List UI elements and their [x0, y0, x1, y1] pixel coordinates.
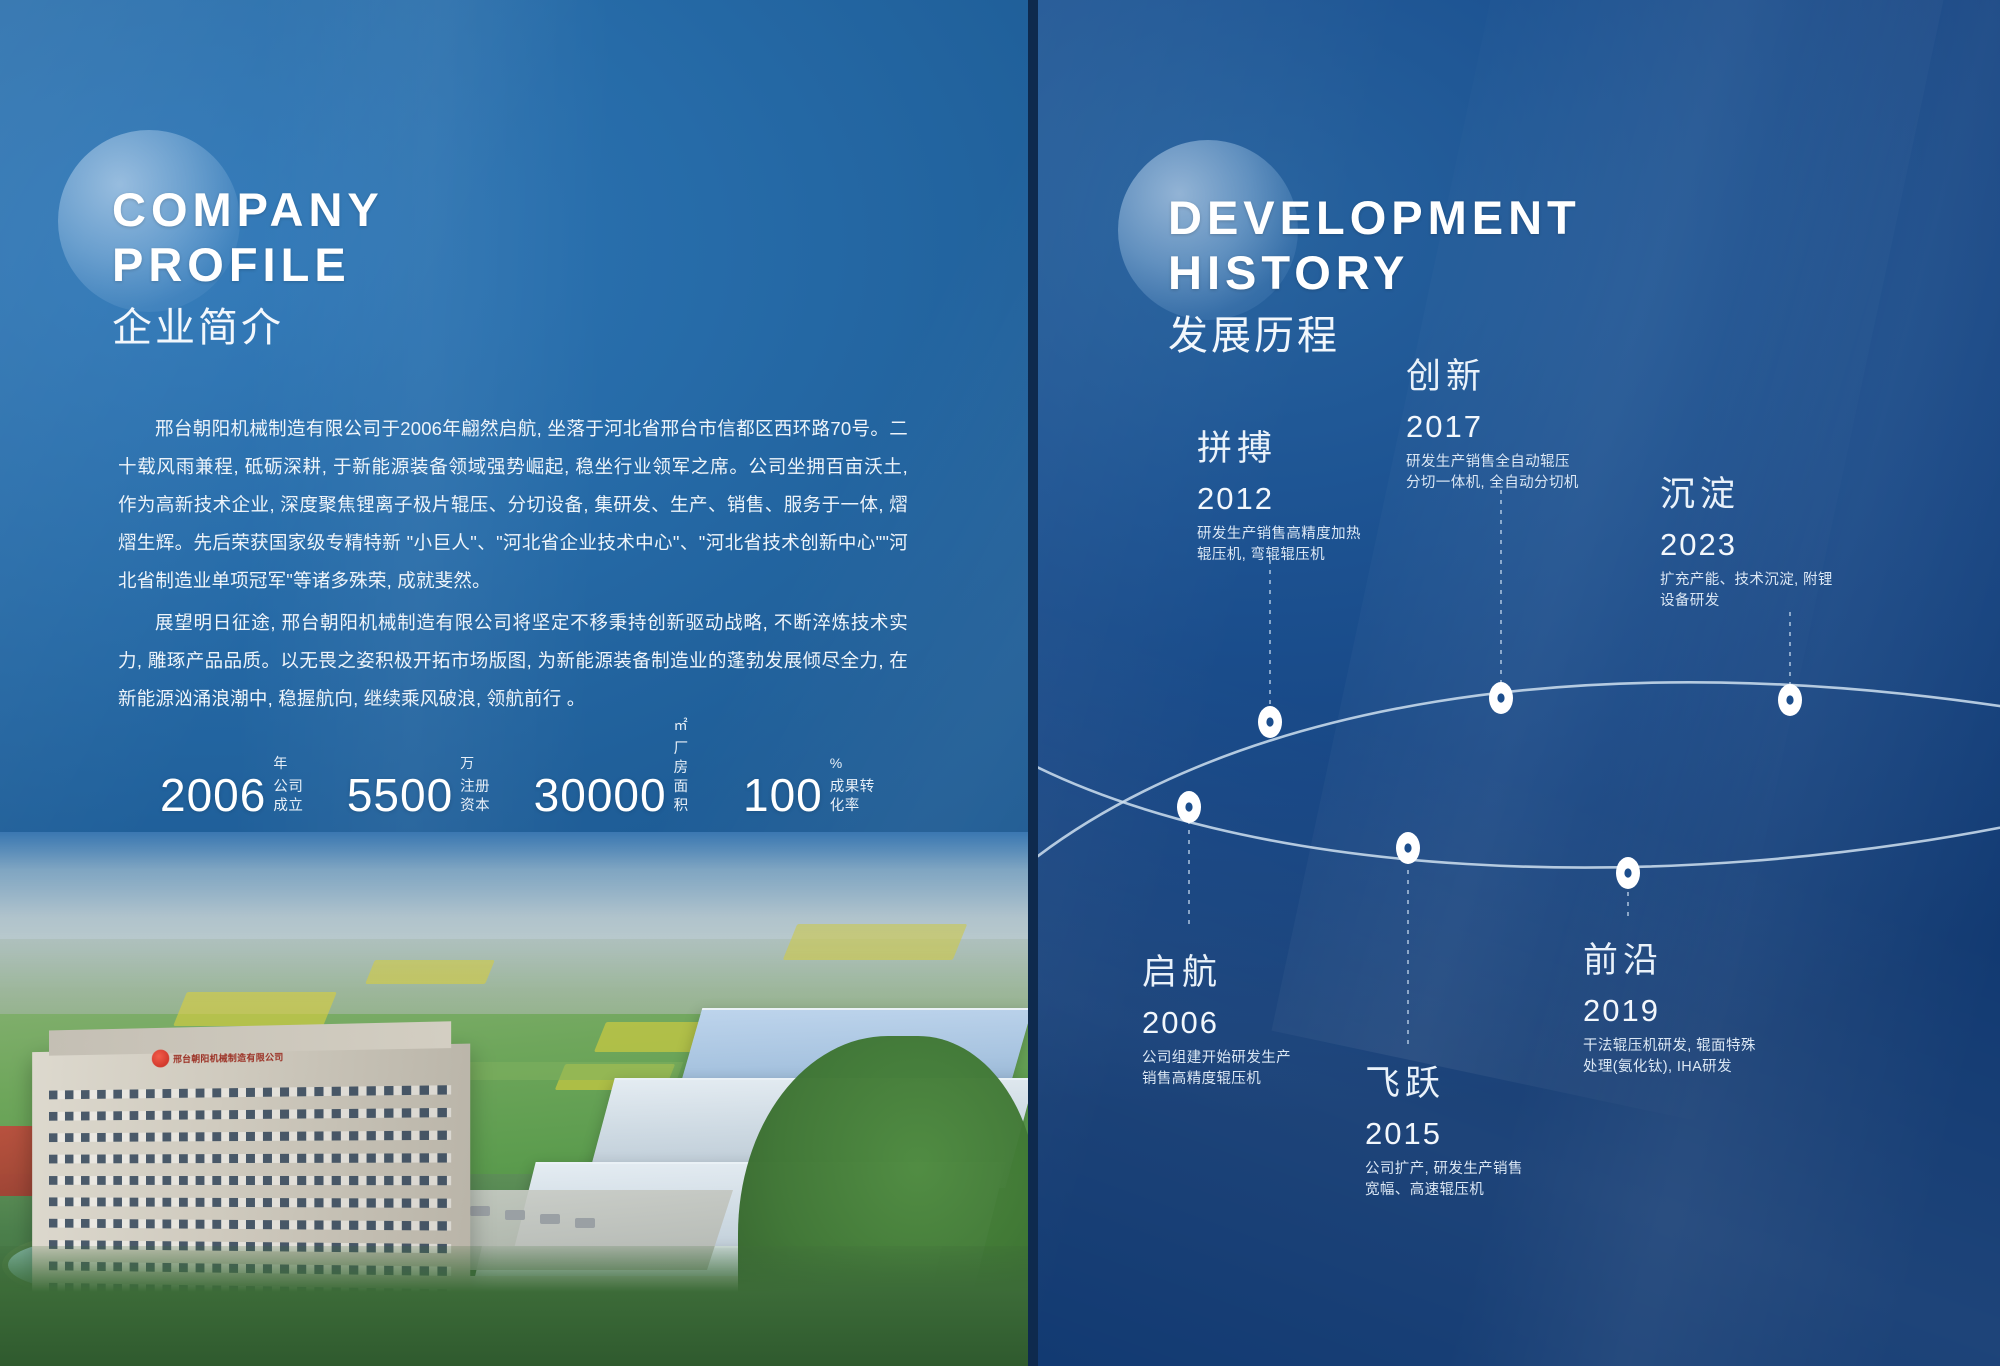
- factory-aerial-photo: 邢台朝阳机械制造有限公司: [0, 832, 1028, 1366]
- milestone-tag: 前沿: [1583, 940, 1813, 982]
- stat-label: 厂房面积: [674, 740, 703, 816]
- timeline-node-2006: [1177, 791, 1201, 823]
- timeline-node-2012: [1258, 706, 1282, 738]
- timeline-node-2019: [1616, 857, 1640, 889]
- development-history-title-block: DEVELOPMENT HISTORY 发展历程: [1168, 190, 1581, 364]
- milestone-tag: 启航: [1142, 952, 1372, 994]
- company-profile-title-block: COMPANY PROFILE 企业简介: [112, 182, 384, 356]
- brochure-spread: COMPANY PROFILE 企业简介 邢台朝阳机械制造有限公司于2006年翩…: [0, 0, 2000, 1366]
- milestone-2017[interactable]: 创新 2017 研发生产销售全自动辊压分切一体机, 全自动分切机: [1406, 356, 1636, 494]
- milestone-desc: 干法辊压机研发, 辊面特殊处理(氨化钛), IHA研发: [1583, 1036, 1813, 1078]
- milestone-2006[interactable]: 启航 2006 公司组建开始研发生产销售高精度辊压机: [1142, 952, 1372, 1090]
- stat-label: 公司成立: [273, 778, 306, 816]
- stat-side: ㎡ 厂房面积: [674, 718, 703, 818]
- milestone-year: 2006: [1142, 1004, 1372, 1042]
- timeline-node-2015: [1396, 832, 1420, 864]
- company-stats-row: 2006 年 公司成立 5500 万 注册资本 30000 ㎡ 厂房面积: [160, 718, 920, 818]
- company-profile-paragraph-1: 邢台朝阳机械制造有限公司于2006年翩然启航, 坐落于河北省邢台市信都区西环路7…: [118, 410, 908, 600]
- milestone-desc: 扩充产能、技术沉淀, 附锂设备研发: [1660, 570, 1890, 612]
- milestone-tag: 飞跃: [1365, 1063, 1595, 1105]
- milestone-desc: 研发生产销售高精度加热辊压机, 弯辊辊压机: [1197, 524, 1427, 566]
- milestone-2012[interactable]: 拼搏 2012 研发生产销售高精度加热辊压机, 弯辊辊压机: [1197, 428, 1427, 566]
- milestone-tag: 创新: [1406, 356, 1636, 398]
- milestone-year: 2017: [1406, 408, 1636, 446]
- stat-item: 100 % 成果转化率: [743, 756, 880, 818]
- milestone-year: 2019: [1583, 992, 1813, 1030]
- stat-unit: 万: [460, 756, 493, 771]
- stat-number: 2006: [160, 772, 266, 818]
- development-history-panel: DEVELOPMENT HISTORY 发展历程: [1038, 0, 2000, 1366]
- company-profile-body: 邢台朝阳机械制造有限公司于2006年翩然启航, 坐落于河北省邢台市信都区西环路7…: [118, 410, 908, 722]
- company-profile-panel: COMPANY PROFILE 企业简介 邢台朝阳机械制造有限公司于2006年翩…: [0, 0, 1028, 1366]
- company-profile-cn-title: 企业简介: [112, 300, 384, 356]
- stat-side: 万 注册资本: [460, 756, 493, 818]
- stat-number: 5500: [347, 772, 453, 818]
- milestone-2015[interactable]: 飞跃 2015 公司扩产, 研发生产销售宽幅、高速辊压机: [1365, 1063, 1595, 1201]
- timeline-node-2017: [1489, 682, 1513, 714]
- stat-unit: ㎡: [674, 718, 703, 733]
- company-profile-en-title-line2: PROFILE: [112, 237, 384, 292]
- timeline-node-2023: [1778, 684, 1802, 716]
- photo-top-haze-blend: [0, 832, 1028, 1366]
- stat-number: 100: [743, 772, 823, 818]
- page-gutter-divider: [1028, 0, 1038, 1366]
- stat-item: 5500 万 注册资本: [347, 756, 494, 818]
- milestone-tag: 拼搏: [1197, 428, 1427, 470]
- stat-side: 年 公司成立: [273, 756, 306, 818]
- stat-number: 30000: [534, 772, 667, 818]
- milestone-desc: 公司扩产, 研发生产销售宽幅、高速辊压机: [1365, 1159, 1595, 1201]
- milestone-2019[interactable]: 前沿 2019 干法辊压机研发, 辊面特殊处理(氨化钛), IHA研发: [1583, 940, 1813, 1078]
- development-history-en-title-line1: DEVELOPMENT: [1168, 190, 1581, 245]
- stat-item: 2006 年 公司成立: [160, 756, 307, 818]
- stat-item: 30000 ㎡ 厂房面积: [534, 718, 703, 818]
- stat-label: 成果转化率: [830, 778, 880, 816]
- milestone-year: 2015: [1365, 1115, 1595, 1153]
- milestone-2023[interactable]: 沉淀 2023 扩充产能、技术沉淀, 附锂设备研发: [1660, 474, 1890, 612]
- milestone-year: 2023: [1660, 526, 1890, 564]
- milestone-tag: 沉淀: [1660, 474, 1890, 516]
- company-profile-en-title-line1: COMPANY: [112, 182, 384, 237]
- milestone-desc: 公司组建开始研发生产销售高精度辊压机: [1142, 1048, 1372, 1090]
- stat-unit: %: [830, 756, 880, 771]
- company-profile-paragraph-2: 展望明日征途, 邢台朝阳机械制造有限公司将坚定不移秉持创新驱动战略, 不断淬炼技…: [118, 604, 908, 718]
- milestone-year: 2012: [1197, 480, 1427, 518]
- development-history-en-title-line2: HISTORY: [1168, 245, 1581, 300]
- stat-label: 注册资本: [460, 778, 493, 816]
- milestone-desc: 研发生产销售全自动辊压分切一体机, 全自动分切机: [1406, 452, 1636, 494]
- stat-unit: 年: [273, 756, 306, 771]
- stat-side: % 成果转化率: [830, 756, 880, 818]
